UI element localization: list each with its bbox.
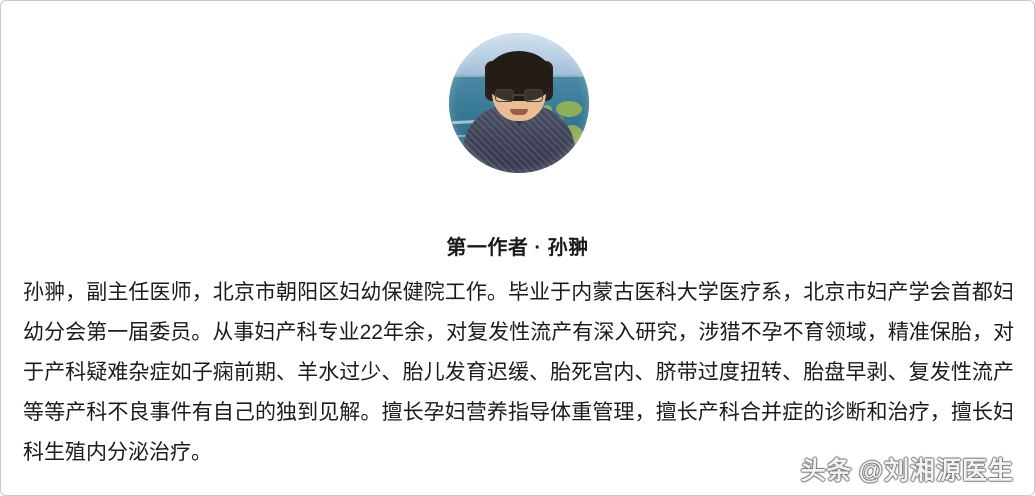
avatar-glasses — [495, 89, 543, 102]
page-title: 第一作者 · 孙翀 — [1, 231, 1034, 260]
watermark-handle: @刘湘源医生 — [859, 457, 1014, 485]
avatar-image — [449, 33, 589, 173]
watermark-brand: 头条 — [801, 457, 853, 485]
watermark: 头条@刘湘源医生 — [801, 451, 1014, 487]
author-profile-card: 第一作者 · 孙翀 孙翀，副主任医师，北京市朝阳区妇幼保健院工作。毕业于内蒙古医… — [0, 0, 1035, 496]
avatar[interactable] — [449, 33, 589, 173]
author-bio-text: 孙翀，副主任医师，北京市朝阳区妇幼保健院工作。毕业于内蒙古医科大学医疗系，北京市… — [23, 273, 1014, 473]
